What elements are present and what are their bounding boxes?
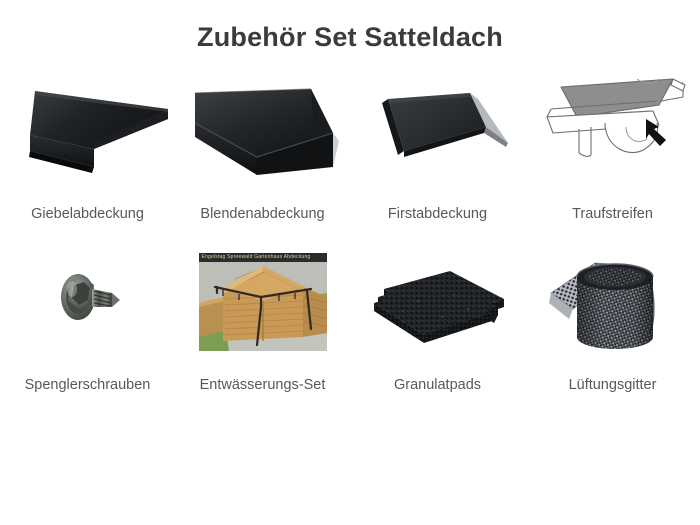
shed-illustration [199,253,327,351]
accessory-thumbnail [183,71,343,199]
roofing-screw-icon [8,245,168,370]
accessory-item-firstabdeckung[interactable]: Firstabdeckung [350,71,525,223]
eaves-strip-diagram-icon [533,71,693,199]
accessory-thumbnail [533,245,693,370]
accessory-item-entwaesserungs-set[interactable]: Engelstag Spreewald Gartenhaus Abdeckung… [175,245,350,394]
accessory-label: Lüftungsgitter [569,376,657,394]
fascia-cover-icon [183,71,343,199]
accessory-item-traufstreifen[interactable]: Traufstreifen [525,71,700,223]
accessory-label: Granulatpads [394,376,481,394]
ventilation-grille-icon [533,245,693,370]
photo-banner-text: Engelstag Spreewald Gartenhaus Abdeckung [199,253,327,262]
accessory-label: Entwässerungs-Set [200,376,326,394]
accessory-row: Giebelabdeckung [0,71,700,223]
accessory-label: Spenglerschrauben [25,376,151,394]
accessory-item-granulatpads[interactable]: Granulatpads [350,245,525,394]
accessory-item-giebelabdeckung[interactable]: Giebelabdeckung [0,71,175,223]
photo-banner: Engelstag Spreewald Gartenhaus Abdeckung [199,253,327,262]
page-title: Zubehör Set Satteldach [0,0,700,57]
accessory-label: Giebelabdeckung [31,205,144,223]
shed-photo: Engelstag Spreewald Gartenhaus Abdeckung [199,253,327,351]
accessory-label: Blendenabdeckung [200,205,324,223]
gable-flashing-icon [8,71,168,199]
accessory-row: Spenglerschrauben [0,245,700,394]
accessory-thumbnail [358,71,518,199]
accessory-item-blendenabdeckung[interactable]: Blendenabdeckung [175,71,350,223]
accessory-label: Firstabdeckung [388,205,487,223]
accessory-label: Traufstreifen [572,205,653,223]
granulate-pads-icon [358,245,518,370]
accessory-grid: Giebelabdeckung [0,57,700,394]
accessory-thumbnail [358,245,518,370]
accessory-thumbnail [533,71,693,199]
accessory-item-lueftungsgitter[interactable]: Lüftungsgitter [525,245,700,394]
accessory-item-spenglerschrauben[interactable]: Spenglerschrauben [0,245,175,394]
accessory-thumbnail [8,71,168,199]
ridge-cap-icon [358,71,518,199]
accessory-thumbnail [8,245,168,370]
accessory-thumbnail: Engelstag Spreewald Gartenhaus Abdeckung [183,245,343,370]
